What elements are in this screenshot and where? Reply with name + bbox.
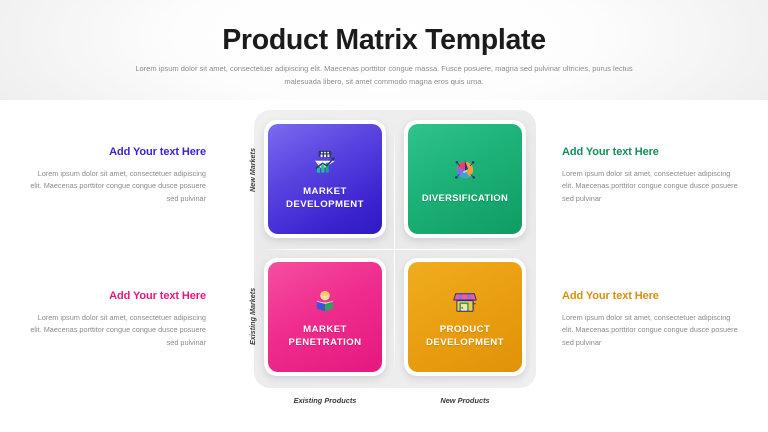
text-block-heading: Add Your text Here	[28, 146, 206, 159]
card-label: MARKET PENETRATION	[289, 324, 362, 349]
matrix-horizontal-divider	[264, 249, 526, 250]
card-surface: MARKET DEVELOPMENT	[268, 124, 382, 234]
quadrant-card-market-penetration[interactable]: MARKET PENETRATION	[264, 258, 386, 376]
header-band: Product Matrix Template Lorem ipsum dolo…	[0, 0, 768, 100]
storefront-icon	[450, 285, 480, 315]
text-block-body: Lorem ipsum dolor sit amet, consectetuer…	[562, 168, 740, 205]
card-surface: MARKET PENETRATION	[268, 262, 382, 372]
slide-canvas: Product Matrix Template Lorem ipsum dolo…	[0, 0, 768, 432]
text-block-bottom-right: Add Your text Here Lorem ipsum dolor sit…	[562, 290, 740, 349]
text-block-body: Lorem ipsum dolor sit amet, consectetuer…	[28, 312, 206, 349]
person-reading-icon	[310, 285, 340, 315]
page-title: Product Matrix Template	[0, 24, 768, 57]
text-block-bottom-left: Add Your text Here Lorem ipsum dolor sit…	[28, 290, 206, 349]
text-block-heading: Add Your text Here	[28, 290, 206, 303]
text-block-heading: Add Your text Here	[562, 290, 740, 303]
axis-label-existing-markets: Existing Markets	[248, 288, 257, 345]
card-label: MARKET DEVELOPMENT	[286, 186, 364, 211]
page-subtitle: Lorem ipsum dolor sit amet, consectetuer…	[134, 62, 634, 88]
card-surface: PRODUCT DEVELOPMENT	[408, 262, 522, 372]
text-block-heading: Add Your text Here	[562, 146, 740, 159]
axis-label-new-products: New Products	[405, 396, 525, 405]
card-label: DIVERSIFICATION	[422, 192, 508, 205]
growth-chart-icon	[310, 147, 340, 177]
axis-label-existing-products: Existing Products	[265, 396, 385, 405]
quadrant-card-product-development[interactable]: PRODUCT DEVELOPMENT	[404, 258, 526, 376]
card-label: PRODUCT DEVELOPMENT	[426, 324, 504, 349]
text-block-body: Lorem ipsum dolor sit amet, consectetuer…	[562, 312, 740, 349]
text-block-body: Lorem ipsum dolor sit amet, consectetuer…	[28, 168, 206, 205]
text-block-top-left: Add Your text Here Lorem ipsum dolor sit…	[28, 146, 206, 205]
text-block-top-right: Add Your text Here Lorem ipsum dolor sit…	[562, 146, 740, 205]
card-surface: DIVERSIFICATION	[408, 124, 522, 234]
quadrant-card-diversification[interactable]: DIVERSIFICATION	[404, 120, 526, 238]
pie-chart-network-icon	[450, 153, 480, 183]
quadrant-card-market-development[interactable]: MARKET DEVELOPMENT	[264, 120, 386, 238]
axis-label-new-markets: New Markets	[248, 148, 257, 192]
